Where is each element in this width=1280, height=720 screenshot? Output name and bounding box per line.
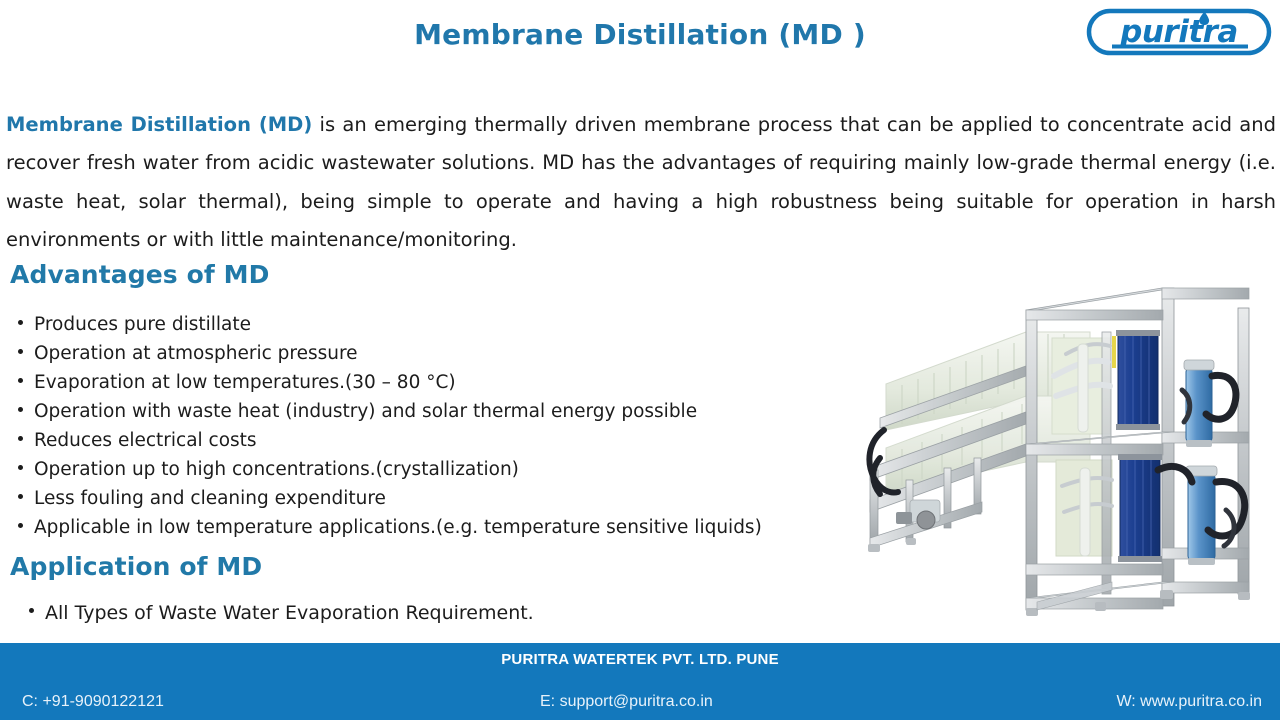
list-item-label: All Types of Waste Water Evaporation Req… [45, 602, 534, 624]
bullet-icon [18, 320, 23, 325]
footer-company-name: PURITRA WATERTEK PVT. LTD. PUNE [0, 651, 1280, 668]
slide: Membrane Distillation (MD ) puritra Memb… [0, 0, 1280, 720]
intro-paragraph: Membrane Distillation (MD) is an emergin… [6, 106, 1276, 260]
footer-website[interactable]: W: www.puritra.co.in [1116, 693, 1262, 711]
footer-phone[interactable]: C: +91-9090122121 [22, 693, 164, 711]
list-item: Operation with waste heat (industry) and… [18, 397, 848, 426]
intro-lead: Membrane Distillation (MD) [6, 113, 312, 136]
list-item: Reduces electrical costs [18, 426, 848, 455]
bullet-icon [18, 494, 23, 499]
bullet-icon [18, 378, 23, 383]
advantages-list: Produces pure distillate Operation at at… [18, 310, 848, 542]
puritra-logo: puritra [1086, 7, 1272, 59]
list-item: Operation at atmospheric pressure [18, 339, 848, 368]
list-item-label: Operation up to high concentrations.(cry… [34, 459, 519, 480]
footer-email[interactable]: E: support@puritra.co.in [540, 693, 713, 711]
svg-text:puritra: puritra [1119, 14, 1238, 50]
bullet-icon [18, 349, 23, 354]
list-item-label: Operation with waste heat (industry) and… [34, 401, 697, 422]
bullet-icon [18, 407, 23, 412]
slide-header: Membrane Distillation (MD ) puritra [0, 0, 1280, 72]
list-item: Produces pure distillate [18, 310, 848, 339]
list-item: Less fouling and cleaning expenditure [18, 484, 848, 513]
list-item-label: Produces pure distillate [34, 314, 251, 335]
list-item: All Types of Waste Water Evaporation Req… [29, 598, 729, 628]
bullet-icon [18, 523, 23, 528]
list-item: Operation up to high concentrations.(cry… [18, 455, 848, 484]
list-item-label: Applicable in low temperature applicatio… [34, 517, 762, 538]
bullet-icon [29, 608, 34, 613]
membrane-distillation-skid-photo [840, 272, 1276, 624]
advantages-heading: Advantages of MD [10, 260, 269, 289]
list-item-label: Less fouling and cleaning expenditure [34, 488, 386, 509]
footer-contact-row: C: +91-9090122121 E: support@puritra.co.… [0, 693, 1280, 717]
application-list: All Types of Waste Water Evaporation Req… [29, 598, 729, 628]
list-item-label: Reduces electrical costs [34, 430, 257, 451]
bullet-icon [18, 436, 23, 441]
bullet-icon [18, 465, 23, 470]
list-item-label: Evaporation at low temperatures.(30 – 80… [34, 372, 456, 393]
list-item-label: Operation at atmospheric pressure [34, 343, 358, 364]
list-item: Evaporation at low temperatures.(30 – 80… [18, 368, 848, 397]
application-heading: Application of MD [10, 552, 262, 581]
footer-bar: PURITRA WATERTEK PVT. LTD. PUNE C: +91-9… [0, 643, 1280, 720]
list-item: Applicable in low temperature applicatio… [18, 513, 848, 542]
